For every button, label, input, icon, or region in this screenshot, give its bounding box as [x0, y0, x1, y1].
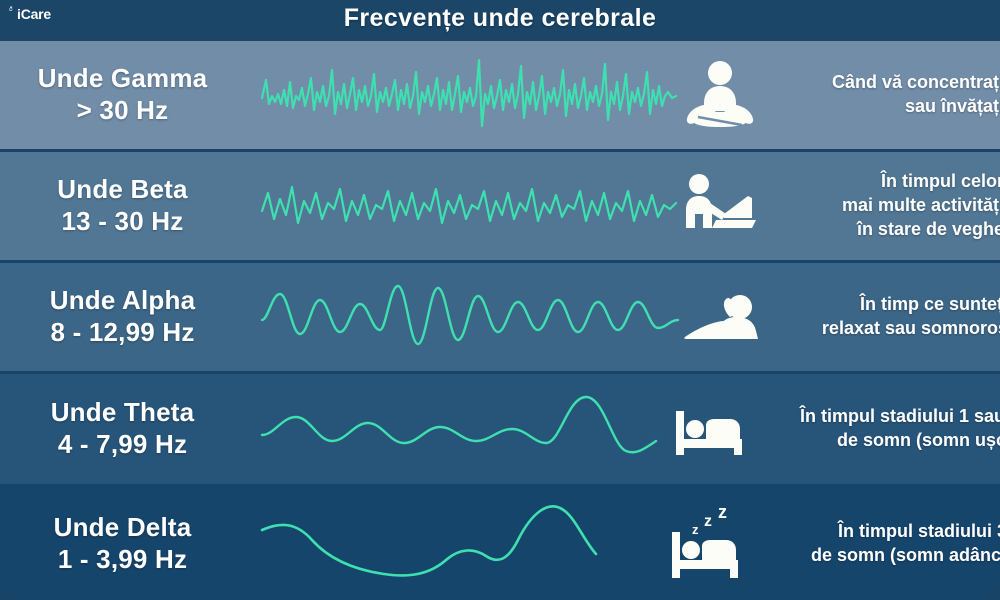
- description-line: Când vă concentrați: [760, 71, 1000, 95]
- label-column-gamma: Unde Gamma > 30 Hz: [0, 63, 255, 126]
- description-line: relaxat sau somnoros: [764, 317, 1000, 341]
- row-beta: Unde Beta 13 - 30 Hz În timpul celor mai…: [0, 152, 1000, 260]
- waveform-alpha: [255, 263, 680, 371]
- wave-range-theta: 4 - 7,99 Hz: [0, 429, 245, 461]
- description-line: mai multe activități: [760, 194, 1000, 218]
- waveform-gamma: [255, 41, 680, 149]
- wave-name-gamma: Unde Gamma: [0, 63, 245, 95]
- description-line: în stare de veghe: [760, 218, 1000, 242]
- waveform-theta: [255, 374, 660, 484]
- row-theta: Unde Theta 4 - 7,99 Hz În timpul stadiul…: [0, 374, 1000, 484]
- wave-name-beta: Unde Beta: [0, 174, 245, 206]
- row-alpha: Unde Alpha 8 - 12,99 Hz În timp ce sunte…: [0, 263, 1000, 371]
- wave-range-delta: 1 - 3,99 Hz: [0, 544, 245, 576]
- person-in-bed-icon: [660, 374, 756, 484]
- description-alpha: În timp ce sunteți relaxat sau somnoros: [764, 293, 1000, 341]
- svg-text:z: z: [718, 504, 727, 522]
- reclining-person-icon: [680, 263, 764, 371]
- description-beta: În timpul celor mai multe activități în …: [760, 170, 1000, 241]
- svg-text:z: z: [704, 513, 712, 530]
- row-gamma: Unde Gamma > 30 Hz Când vă concentrați s…: [0, 41, 1000, 149]
- sleeping-person-zzz-icon: z z z: [660, 487, 756, 600]
- label-column-theta: Unde Theta 4 - 7,99 Hz: [0, 397, 255, 460]
- person-at-laptop-icon: [680, 152, 760, 260]
- label-column-delta: Unde Delta 1 - 3,99 Hz: [0, 512, 255, 575]
- wave-range-beta: 13 - 30 Hz: [0, 206, 245, 238]
- description-line: În timp ce sunteți: [764, 293, 1000, 317]
- wave-name-theta: Unde Theta: [0, 397, 245, 429]
- description-delta: În timpul stadiului 3 de somn (somn adân…: [756, 520, 1000, 568]
- description-line: În timpul stadiului 1 sau 2: [756, 405, 1000, 429]
- description-line: de somn (somn adânc): [756, 544, 1000, 568]
- description-gamma: Când vă concentrați sau învățați: [760, 71, 1000, 119]
- waveform-delta: [255, 487, 660, 600]
- wave-name-delta: Unde Delta: [0, 512, 245, 544]
- header-bar: iCare Frecvențe unde cerebrale: [0, 0, 1000, 41]
- row-delta: Unde Delta 1 - 3,99 Hz z z z În timpul s…: [0, 487, 1000, 600]
- brainwave-infographic: iCare Frecvențe unde cerebrale Unde Gamm…: [0, 0, 1000, 600]
- description-line: În timpul stadiului 3: [756, 520, 1000, 544]
- page-title: Frecvențe unde cerebrale: [0, 4, 1000, 33]
- description-line: În timpul celor: [760, 170, 1000, 194]
- wave-range-gamma: > 30 Hz: [0, 95, 245, 127]
- description-line: de somn (somn ușor): [756, 429, 1000, 453]
- label-column-alpha: Unde Alpha 8 - 12,99 Hz: [0, 285, 255, 348]
- waveform-beta: [255, 152, 680, 260]
- label-column-beta: Unde Beta 13 - 30 Hz: [0, 174, 255, 237]
- meditating-person-icon: [680, 41, 760, 149]
- wave-range-alpha: 8 - 12,99 Hz: [0, 317, 245, 349]
- description-theta: În timpul stadiului 1 sau 2 de somn (som…: [756, 405, 1000, 453]
- svg-text:z: z: [692, 522, 699, 537]
- description-line: sau învățați: [760, 95, 1000, 119]
- wave-name-alpha: Unde Alpha: [0, 285, 245, 317]
